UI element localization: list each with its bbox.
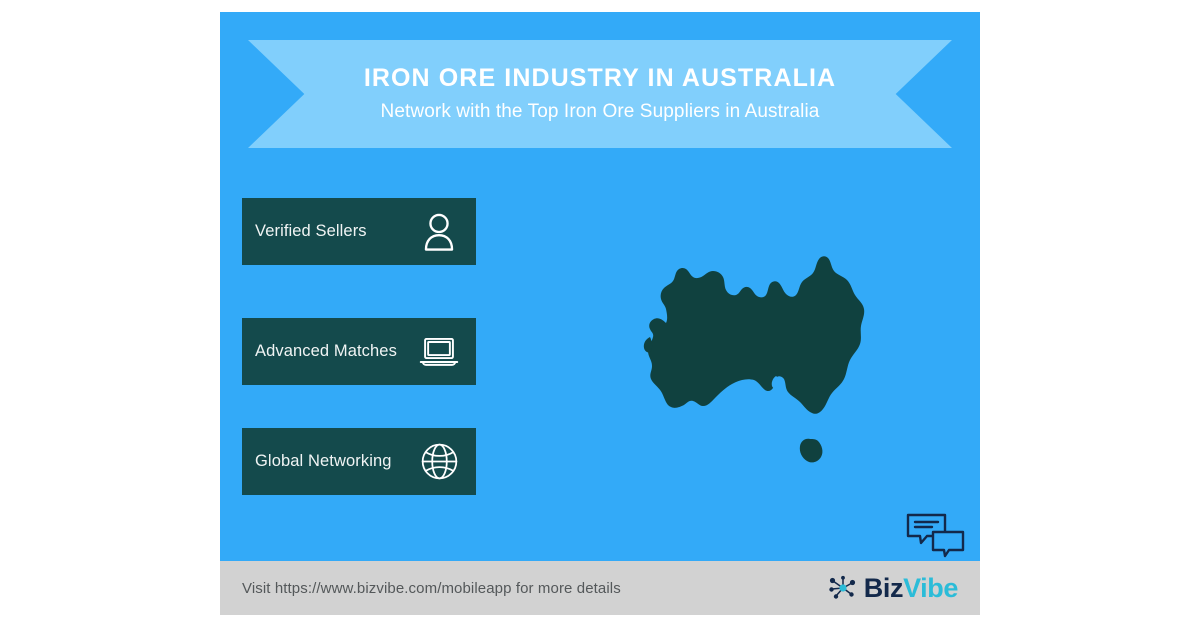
footer-visit-text: Visit https://www.bizvibe.com/mobileapp …	[242, 580, 621, 597]
feature-label: Advanced Matches	[255, 342, 397, 361]
australia-mainland-shape	[644, 256, 864, 414]
feature-card-global-networking[interactable]: Global Networking	[242, 428, 476, 495]
feature-card-advanced-matches[interactable]: Advanced Matches	[242, 318, 476, 385]
banner-ribbon: IRON ORE INDUSTRY IN AUSTRALIA Network w…	[248, 40, 952, 148]
brand-name-biz: Biz	[864, 573, 903, 603]
brand-name-vibe: Vibe	[903, 573, 958, 603]
page-title: IRON ORE INDUSTRY IN AUSTRALIA	[364, 65, 836, 93]
footer-bar: Visit https://www.bizvibe.com/mobileapp …	[220, 561, 980, 615]
user-icon	[418, 211, 460, 253]
brand-wordmark: BizVibe	[864, 575, 958, 602]
australia-map	[610, 227, 890, 477]
infographic-canvas: IRON ORE INDUSTRY IN AUSTRALIA Network w…	[220, 12, 980, 615]
page-subtitle: Network with the Top Iron Ore Suppliers …	[381, 102, 820, 123]
chat-bubbles-icon	[905, 510, 967, 560]
infographic-page: IRON ORE INDUSTRY IN AUSTRALIA Network w…	[0, 0, 1200, 627]
feature-label: Verified Sellers	[255, 222, 367, 241]
laptop-icon	[418, 331, 460, 373]
network-nodes-icon	[828, 575, 858, 601]
bizvibe-logo[interactable]: BizVibe	[828, 575, 958, 602]
tasmania-shape	[800, 439, 823, 463]
globe-icon	[418, 441, 460, 483]
feature-label: Global Networking	[255, 452, 392, 471]
feature-card-verified-sellers[interactable]: Verified Sellers	[242, 198, 476, 265]
